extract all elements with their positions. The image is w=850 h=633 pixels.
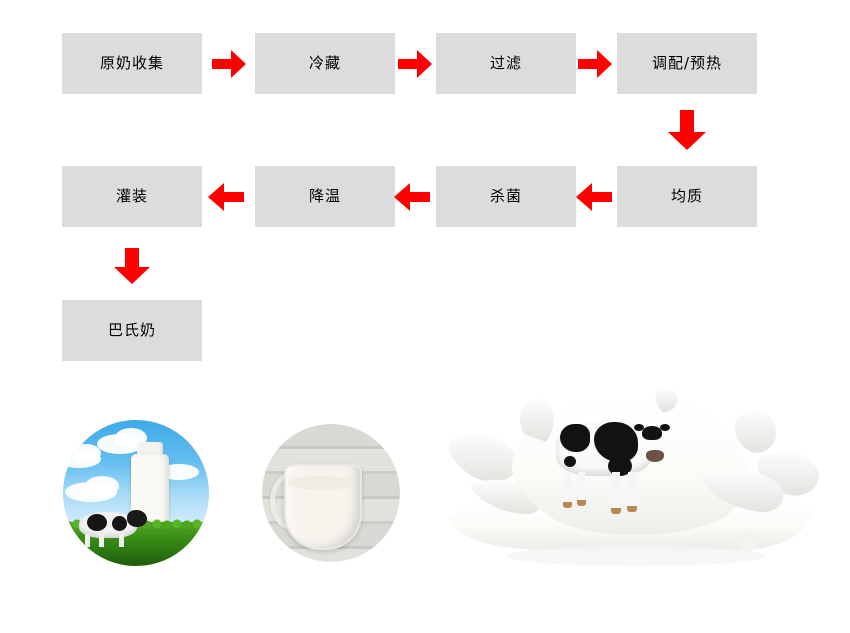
arrow-right-icon <box>578 50 612 78</box>
milk-splash-with-cow-photo <box>440 390 820 575</box>
flow-step-filtration[interactable]: 过滤 <box>436 33 576 94</box>
milk-pitcher-photo <box>262 424 400 562</box>
flow-step-label: 降温 <box>309 189 341 204</box>
arrow-right-icon <box>212 50 246 78</box>
flow-step-label: 灌装 <box>116 189 148 204</box>
flow-step-blending-preheat[interactable]: 调配/预热 <box>617 33 757 94</box>
flow-step-sterilization[interactable]: 杀菌 <box>436 166 576 227</box>
flow-step-label: 冷藏 <box>309 56 341 71</box>
flow-step-raw-milk-collection[interactable]: 原奶收集 <box>62 33 202 94</box>
flow-step-label: 巴氏奶 <box>108 323 156 338</box>
arrow-down-icon <box>668 110 706 150</box>
flow-step-filling[interactable]: 灌装 <box>62 166 202 227</box>
holstein-cow-figure <box>550 412 680 512</box>
flow-step-cooling[interactable]: 降温 <box>255 166 395 227</box>
arrow-right-icon <box>398 50 432 78</box>
flow-step-refrigeration[interactable]: 冷藏 <box>255 33 395 94</box>
flow-step-pasteurized-milk[interactable]: 巴氏奶 <box>62 300 202 361</box>
arrow-left-icon <box>394 183 430 211</box>
flow-step-label: 过滤 <box>490 56 522 71</box>
flow-step-label: 调配/预热 <box>652 56 722 71</box>
arrow-down-icon <box>114 248 150 284</box>
arrow-left-icon <box>208 183 244 211</box>
cow-and-milk-bottle-photo <box>63 420 209 566</box>
flow-step-label: 原奶收集 <box>100 56 164 71</box>
flow-step-label: 均质 <box>671 189 703 204</box>
flow-step-label: 杀菌 <box>490 189 522 204</box>
arrow-left-icon <box>576 183 612 211</box>
flowchart-page: 原奶收集 冷藏 过滤 调配/预热 灌装 <box>0 0 850 633</box>
flow-step-homogenization[interactable]: 均质 <box>617 166 757 227</box>
